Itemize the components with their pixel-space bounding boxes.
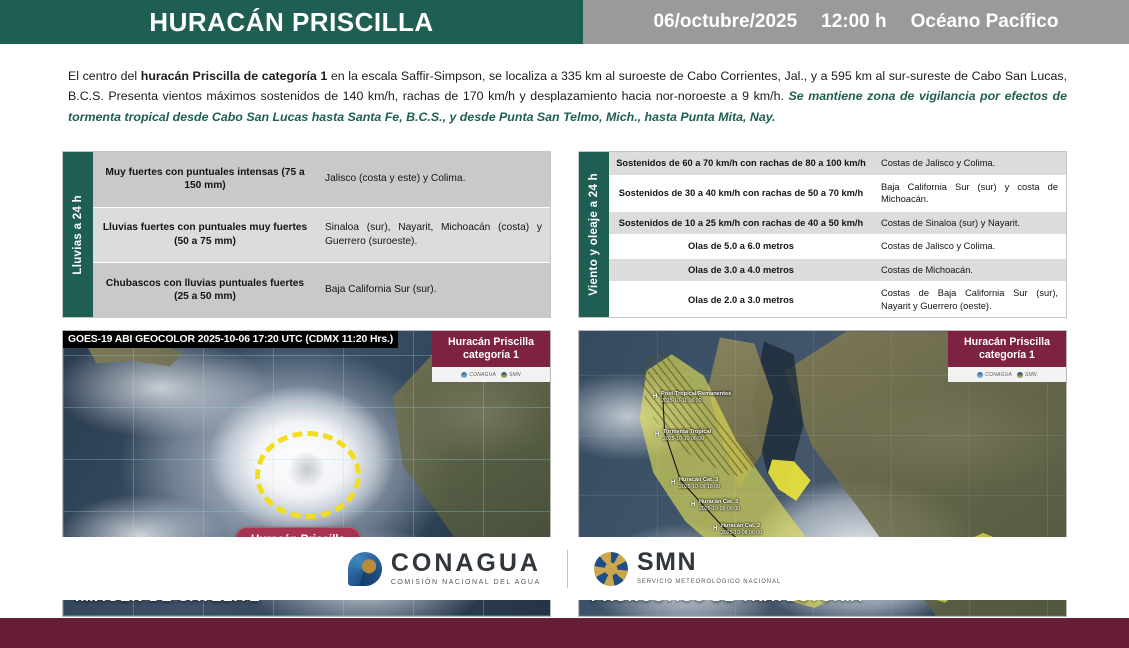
track-point-label: Tormenta Tropical2025-10-10 06:00 [663,429,711,442]
wind-level: Sostenidos de 60 a 70 km/h con rachas de… [609,152,873,175]
storm-badge-title: Huracán Priscilla categoría 1 [432,336,550,367]
header-time: 12:00 h [821,11,886,33]
track-point-category: Huracán Cat. 2 [721,523,760,529]
rain-level: Chubascos con lluvias puntuales fuertes … [93,263,317,317]
page-header: HURACÁN PRISCILLA 06/octubre/2025 12:00 … [0,0,1129,44]
track-point-category: Tormenta Tropical [663,429,711,435]
header-date: 06/octubre/2025 [654,11,798,33]
track-point-category: Post-Tropical/Remanentes [661,391,731,397]
wind-areas: Baja California Sur (sur) y costa de Mic… [873,176,1066,211]
rain-table-body: Muy fuertes con puntuales intensas (75 a… [93,152,550,317]
smn-logo: SMN SERVICIO METEOROLÓGICO NACIONAL [594,550,781,586]
spiral-icon [1017,372,1023,378]
wave-level: Olas de 2.0 a 3.0 metros [609,282,873,317]
track-point-datetime: 2025-10-09 06:00 [699,506,740,513]
wave-areas: Costas de Jalisco y Colima. [873,235,1066,258]
table-row: Olas de 2.0 a 3.0 metros Costas de Baja … [609,282,1066,317]
rain-table-side-label: Lluvias a 24 h [71,191,85,279]
wind-areas: Costas de Sinaloa (sur) y Nayarit. [873,212,1066,235]
rain-areas: Baja California Sur (sur). [317,263,550,317]
wave-level: Olas de 5.0 a 6.0 metros [609,235,873,258]
footer-logos: CONAGUA COMISIÓN NACIONAL DEL AGUA SMN S… [0,537,1129,600]
track-point-datetime: 2025-10-09 18:00 [679,484,720,491]
rain-level: Muy fuertes con puntuales intensas (75 a… [93,152,317,206]
track-point-label: Post-Tropical/Remanentes2025-10-11 06:00 [661,391,731,404]
track-point-label: Huracán Cat. 32025-10-09 06:00 [699,499,740,512]
smn-name: SMN [637,550,781,575]
track-point-category: Huracán Cat. 3 [699,499,738,505]
summary-bold: huracán Priscilla de categoría 1 [141,69,328,83]
smn-subtitle: SERVICIO METEOROLÓGICO NACIONAL [637,578,781,586]
storm-badge-line1: Huracán Priscilla [952,336,1062,349]
track-point-label: Huracán Cat. 22025-10-08 06:00 [721,523,762,536]
footer-bar [0,618,1129,648]
wave-areas: Costas de Baja California Sur (sur), Nay… [873,282,1066,317]
water-wave-icon [977,372,983,378]
conagua-mini-label: CONAGUA [469,372,496,378]
table-row: Muy fuertes con puntuales intensas (75 a… [93,152,550,207]
track-point-marker-icon: H [653,394,659,401]
storm-badge-line2: categoría 1 [436,349,546,362]
hurricane-eye-marker-icon [255,431,361,519]
smn-mini-logo: SMN [501,372,521,378]
storm-badge-logos: CONAGUA SMN [432,367,550,382]
storm-badge-line2: categoría 1 [952,349,1062,362]
summary-section: El centro del huracán Priscilla de categ… [0,44,1129,145]
table-row: Olas de 3.0 a 4.0 metros Costas de Micho… [609,259,1066,283]
satellite-source-strip: GOES-19 ABI GEOCOLOR 2025-10-06 17:20 UT… [63,331,398,348]
track-point-label: Huracán Cat. 32025-10-09 18:00 [679,477,720,490]
spiral-icon [501,372,507,378]
wind-table-side-header: Viento y oleaje a 24 h [579,152,609,317]
storm-badge-title: Huracán Priscilla categoría 1 [948,336,1066,367]
smn-mini-label: SMN [509,372,521,378]
conagua-name: CONAGUA [391,551,541,576]
table-row: Sostenidos de 30 a 40 km/h con rachas de… [609,176,1066,212]
wave-level: Olas de 3.0 a 4.0 metros [609,259,873,282]
wind-level: Sostenidos de 10 a 25 km/h con rachas de… [609,212,873,235]
conagua-mini-logo: CONAGUA [461,372,496,378]
smn-mini-label: SMN [1025,372,1037,378]
conagua-logo: CONAGUA COMISIÓN NACIONAL DEL AGUA [348,551,541,586]
track-point-marker-icon: H [655,432,661,439]
track-point-category: Huracán Cat. 3 [679,477,718,483]
storm-badge-logos: CONAGUA SMN [948,367,1066,382]
track-point-marker-icon: H [671,480,677,487]
summary-paragraph: El centro del huracán Priscilla de categ… [68,66,1067,126]
rain-table-side-header: Lluvias a 24 h [63,152,93,317]
header-title-block: HURACÁN PRISCILLA [0,0,583,44]
summary-part1: El centro del [68,69,141,83]
storm-badge: Huracán Priscilla categoría 1 CONAGUA SM… [432,331,550,382]
smn-spiral-icon [594,552,628,586]
rain-areas: Jalisco (costa y este) y Colima. [317,152,550,206]
storm-badge-line1: Huracán Priscilla [436,336,546,349]
wind-wave-table: Viento y oleaje a 24 h Sostenidos de 60 … [578,151,1067,318]
track-point-datetime: 2025-10-10 06:00 [663,436,711,443]
conagua-mini-label: CONAGUA [985,372,1012,378]
track-point-marker-icon: H [691,502,697,509]
table-row: Chubascos con lluvias puntuales fuertes … [93,263,550,317]
header-meta-block: 06/octubre/2025 12:00 h Océano Pacífico [583,0,1129,44]
storm-badge: Huracán Priscilla categoría 1 CONAGUA SM… [948,331,1066,382]
table-row: Olas de 5.0 a 6.0 metros Costas de Jalis… [609,235,1066,259]
wind-table-side-label: Viento y oleaje a 24 h [587,169,601,300]
wind-table-body: Sostenidos de 60 a 70 km/h con rachas de… [609,152,1066,317]
tables-row: Lluvias a 24 h Muy fuertes con puntuales… [0,145,1129,318]
rain-table: Lluvias a 24 h Muy fuertes con puntuales… [62,151,551,318]
wind-areas: Costas de Jalisco y Colima. [873,152,1066,175]
table-row: Sostenidos de 10 a 25 km/h con rachas de… [609,212,1066,236]
smn-mini-logo: SMN [1017,372,1037,378]
conagua-logo-text: CONAGUA COMISIÓN NACIONAL DEL AGUA [391,551,541,586]
table-row: Lluvias fuertes con puntuales muy fuerte… [93,208,550,263]
rain-areas: Sinaloa (sur), Nayarit, Michoacán (costa… [317,208,550,262]
footer-divider [567,550,568,588]
conagua-subtitle: COMISIÓN NACIONAL DEL AGUA [391,579,541,586]
track-point-datetime: 2025-10-08 06:00 [721,530,762,537]
water-wave-icon [461,372,467,378]
wind-level: Sostenidos de 30 a 40 km/h con rachas de… [609,176,873,211]
wave-areas: Costas de Michoacán. [873,259,1066,282]
conagua-wave-icon [348,552,382,586]
page-title: HURACÁN PRISCILLA [149,7,433,38]
conagua-mini-logo: CONAGUA [977,372,1012,378]
smn-logo-text: SMN SERVICIO METEOROLÓGICO NACIONAL [637,550,781,586]
rain-level: Lluvias fuertes con puntuales muy fuerte… [93,208,317,262]
track-point-datetime: 2025-10-11 06:00 [661,398,731,405]
table-row: Sostenidos de 60 a 70 km/h con rachas de… [609,152,1066,176]
header-region: Océano Pacífico [911,11,1059,33]
track-point-marker-icon: H [713,526,719,533]
